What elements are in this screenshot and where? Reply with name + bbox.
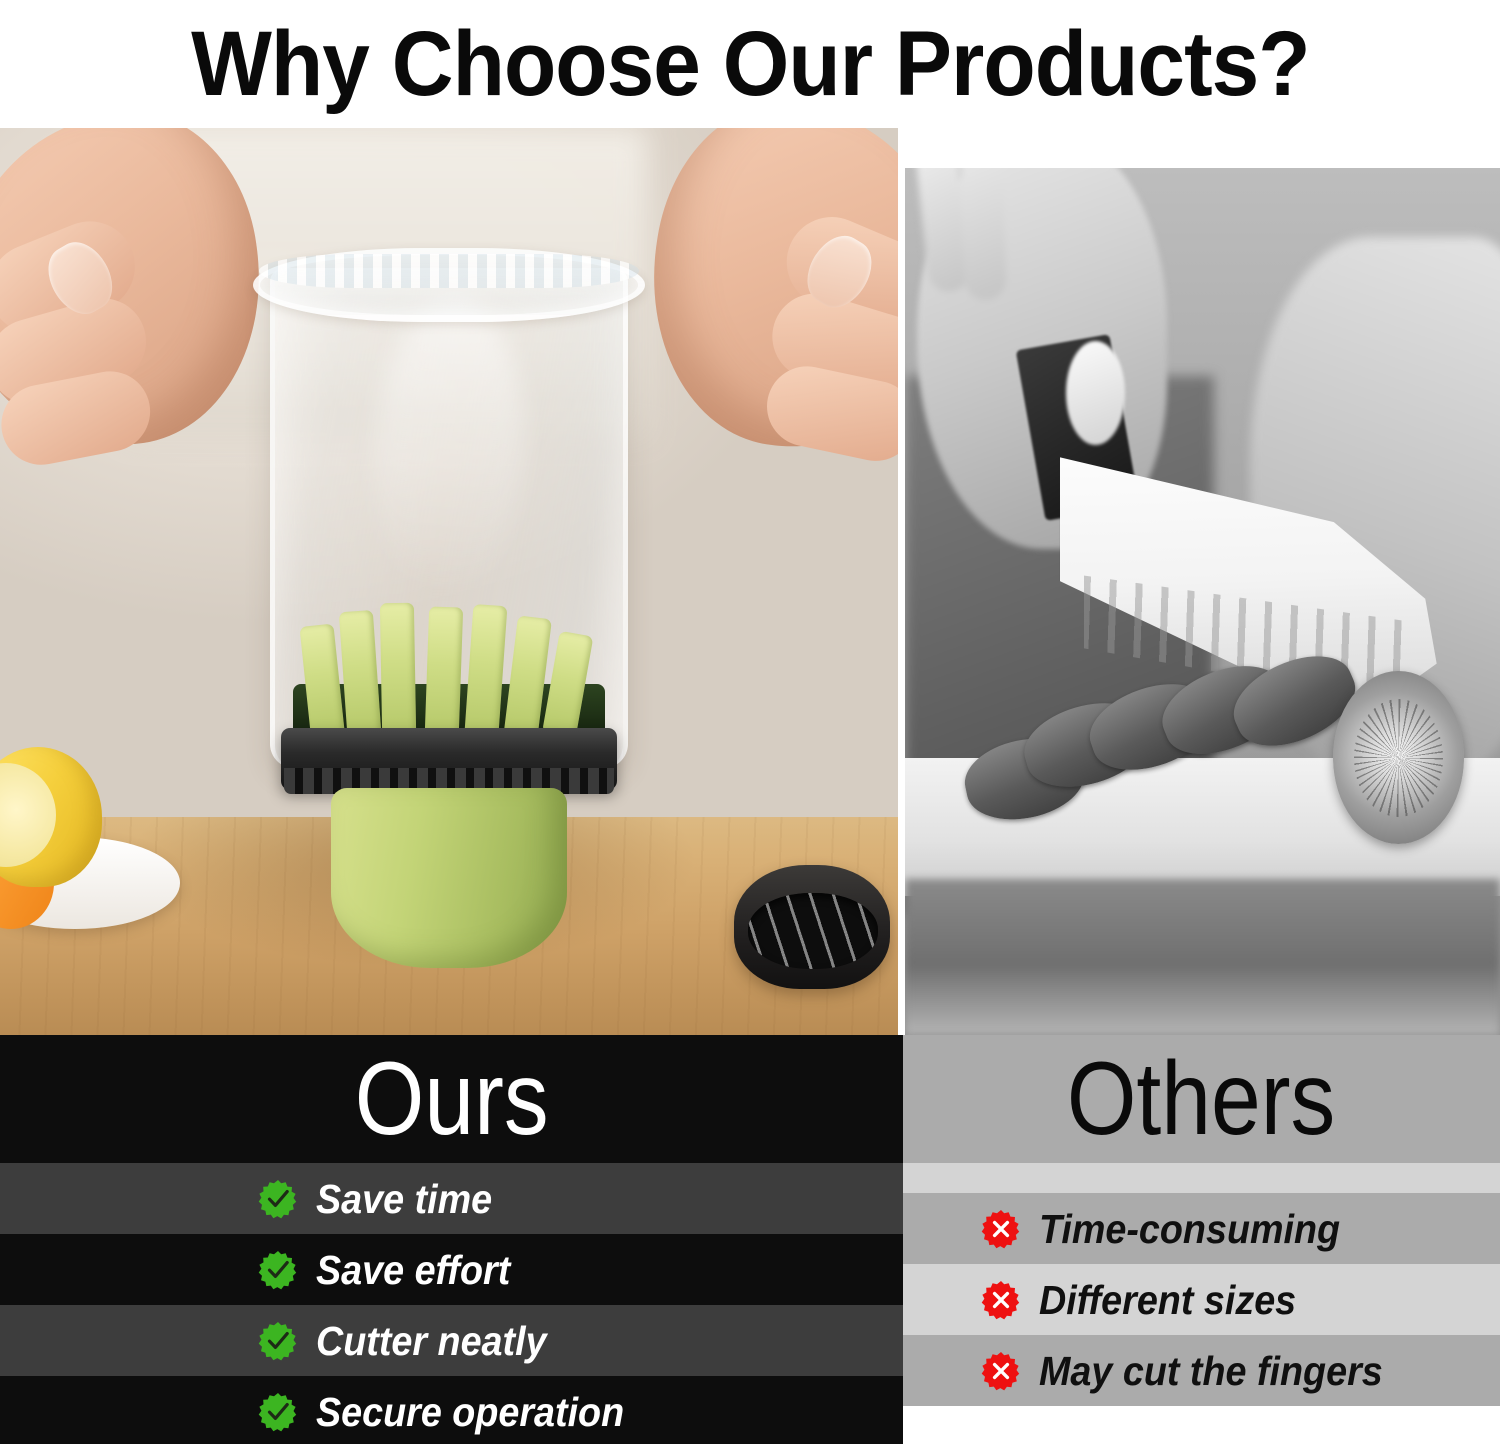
whole-cucumber xyxy=(331,788,567,968)
list-item: Different sizes xyxy=(903,1264,1500,1335)
list-item: Save time xyxy=(0,1163,903,1234)
feature-label: Cutter neatly xyxy=(316,1319,547,1363)
cucumber-slice xyxy=(339,610,381,734)
others-knife-photo xyxy=(905,168,1500,1035)
feature-label: Save time xyxy=(316,1177,492,1221)
feature-label: Save effort xyxy=(316,1248,510,1292)
list-item: Time-consuming xyxy=(903,1193,1500,1264)
ours-header: Ours xyxy=(0,1035,903,1163)
green-check-badge-icon xyxy=(258,1321,298,1361)
cup-rim-scallop xyxy=(259,254,639,288)
thumbnail xyxy=(1066,341,1126,445)
title-bar: Why Choose Our Products? xyxy=(0,0,1500,128)
ours-heading: Ours xyxy=(355,1047,549,1151)
finger xyxy=(959,168,1008,300)
ours-product-photo xyxy=(0,128,898,1035)
cucumber-slice xyxy=(425,606,463,733)
green-check-badge-icon xyxy=(258,1179,298,1219)
others-column: Others Time-consuming xyxy=(903,1035,1500,1444)
red-cross-badge-icon xyxy=(981,1351,1021,1391)
page-title: Why Choose Our Products? xyxy=(191,18,1310,110)
feature-label: Time-consuming xyxy=(1039,1207,1340,1251)
others-feature-list: Time-consuming Different sizes xyxy=(903,1193,1500,1406)
others-heading: Others xyxy=(1067,1047,1335,1151)
cucumber-slice xyxy=(465,604,508,734)
feature-label: Secure operation xyxy=(316,1390,624,1434)
green-check-badge-icon xyxy=(258,1250,298,1290)
others-header-divider xyxy=(903,1163,1500,1193)
others-header: Others xyxy=(903,1035,1500,1163)
green-check-badge-icon xyxy=(258,1392,298,1432)
cucumber-slices xyxy=(299,583,599,733)
kiwi-fruit xyxy=(1333,671,1464,844)
cucumber-slice xyxy=(543,631,594,735)
feature-label: May cut the fingers xyxy=(1039,1349,1383,1393)
blade-grid xyxy=(748,893,878,969)
list-item: Save effort xyxy=(0,1234,903,1305)
grayscale-foreground xyxy=(905,879,1500,1035)
cucumber-slice xyxy=(380,603,416,734)
red-cross-badge-icon xyxy=(981,1209,1021,1249)
feature-label: Different sizes xyxy=(1039,1278,1296,1322)
infographic-page: Why Choose Our Products? xyxy=(0,0,1500,1444)
ours-column: Ours Save time xyxy=(0,1035,903,1444)
list-item: May cut the fingers xyxy=(903,1335,1500,1406)
ours-feature-list: Save time Save effort xyxy=(0,1163,903,1444)
photo-row xyxy=(0,128,1500,1035)
red-cross-badge-icon xyxy=(981,1280,1021,1320)
list-item: Cutter neatly xyxy=(0,1305,903,1376)
comparison-section: Ours Save time xyxy=(0,1035,1500,1444)
cucumber-slice xyxy=(299,624,344,735)
list-item: Secure operation xyxy=(0,1376,903,1444)
